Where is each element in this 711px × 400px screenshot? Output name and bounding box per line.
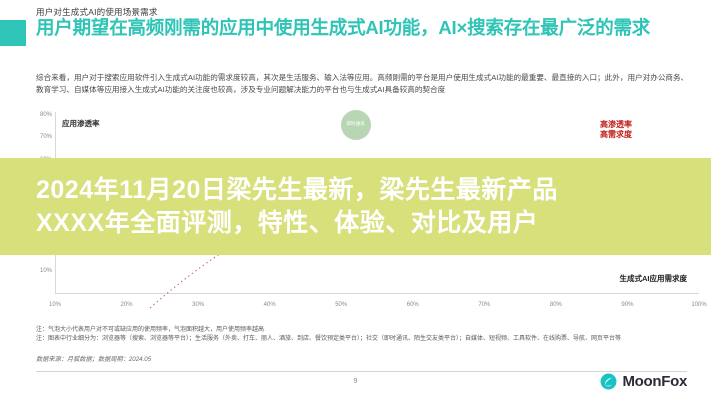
x-tick-label: 30% <box>192 302 204 308</box>
overlay-line-2: XXXX年全面评测，特性、体验、对比及用户 <box>36 207 711 240</box>
brand-logo: MoonFox <box>600 373 687 390</box>
footer-divider <box>36 371 687 372</box>
moonfox-mark-icon <box>600 373 617 390</box>
summary-paragraph: 综合来看，用户对于搜索应用软件引入生成式AI功能的需求度较高，其次是生活服务、输… <box>36 72 691 97</box>
x-axis-title: 生成式AI应用需求度 <box>620 273 688 284</box>
x-tick-label: 10% <box>49 302 61 308</box>
x-tick-label: 60% <box>407 302 419 308</box>
title-overlay-band: 2024年11月20日梁先生最新，梁先生最新产品 XXXX年全面评测，特性、体验… <box>0 158 711 255</box>
y-axis-title: 应用渗透率 <box>62 118 100 129</box>
page-title: 用户期望在高频刚需的应用中使用生成式AI功能，AI×搜索存在最广泛的需求 <box>36 17 696 39</box>
accent-bar <box>0 20 26 46</box>
annotation-line-1: 高渗透率 <box>600 120 632 130</box>
slide-canvas: 用户对生成式AI的使用场景需求 用户期望在高频刚需的应用中使用生成式AI功能，A… <box>0 0 711 400</box>
footnote-1: 注：气泡大小代表用户对不可或缺应用的使用频率，气泡面积越大，用户使用频率越高 <box>36 326 686 335</box>
y-tick-label: 80% <box>26 112 52 118</box>
chart-bubble[interactable]: 即时通讯 <box>341 110 371 140</box>
y-tick-label: 10% <box>26 268 52 274</box>
annotation-line-2: 高需求度 <box>600 130 632 140</box>
x-tick-label: 70% <box>478 302 490 308</box>
x-tick-label: 80% <box>550 302 562 308</box>
y-tick-label: 70% <box>26 134 52 140</box>
x-tick-label: 90% <box>621 302 633 308</box>
x-tick-label: 20% <box>121 302 133 308</box>
x-tick-label: 100% <box>691 302 706 308</box>
footnotes: 注：气泡大小代表用户对不可或缺应用的使用频率，气泡面积越大，用户使用频率越高 注… <box>36 326 686 345</box>
brand-name: MoonFox <box>622 373 687 390</box>
overlay-line-1: 2024年11月20日梁先生最新，梁先生最新产品 <box>36 174 711 207</box>
footnote-2: 注：图表中行业细分为：浏览器等（搜索、浏览器等平台）；生活服务（外卖、打车、丽人… <box>36 335 686 344</box>
page-number: 9 <box>354 378 358 385</box>
x-tick-label: 50% <box>335 302 347 308</box>
x-axis-line <box>55 293 699 294</box>
high-quadrant-annotation: 高渗透率 高需求度 <box>600 120 632 140</box>
source-line: 数据来源：月狐数据；数据周期：2024.05 <box>36 354 151 363</box>
x-tick-label: 40% <box>264 302 276 308</box>
